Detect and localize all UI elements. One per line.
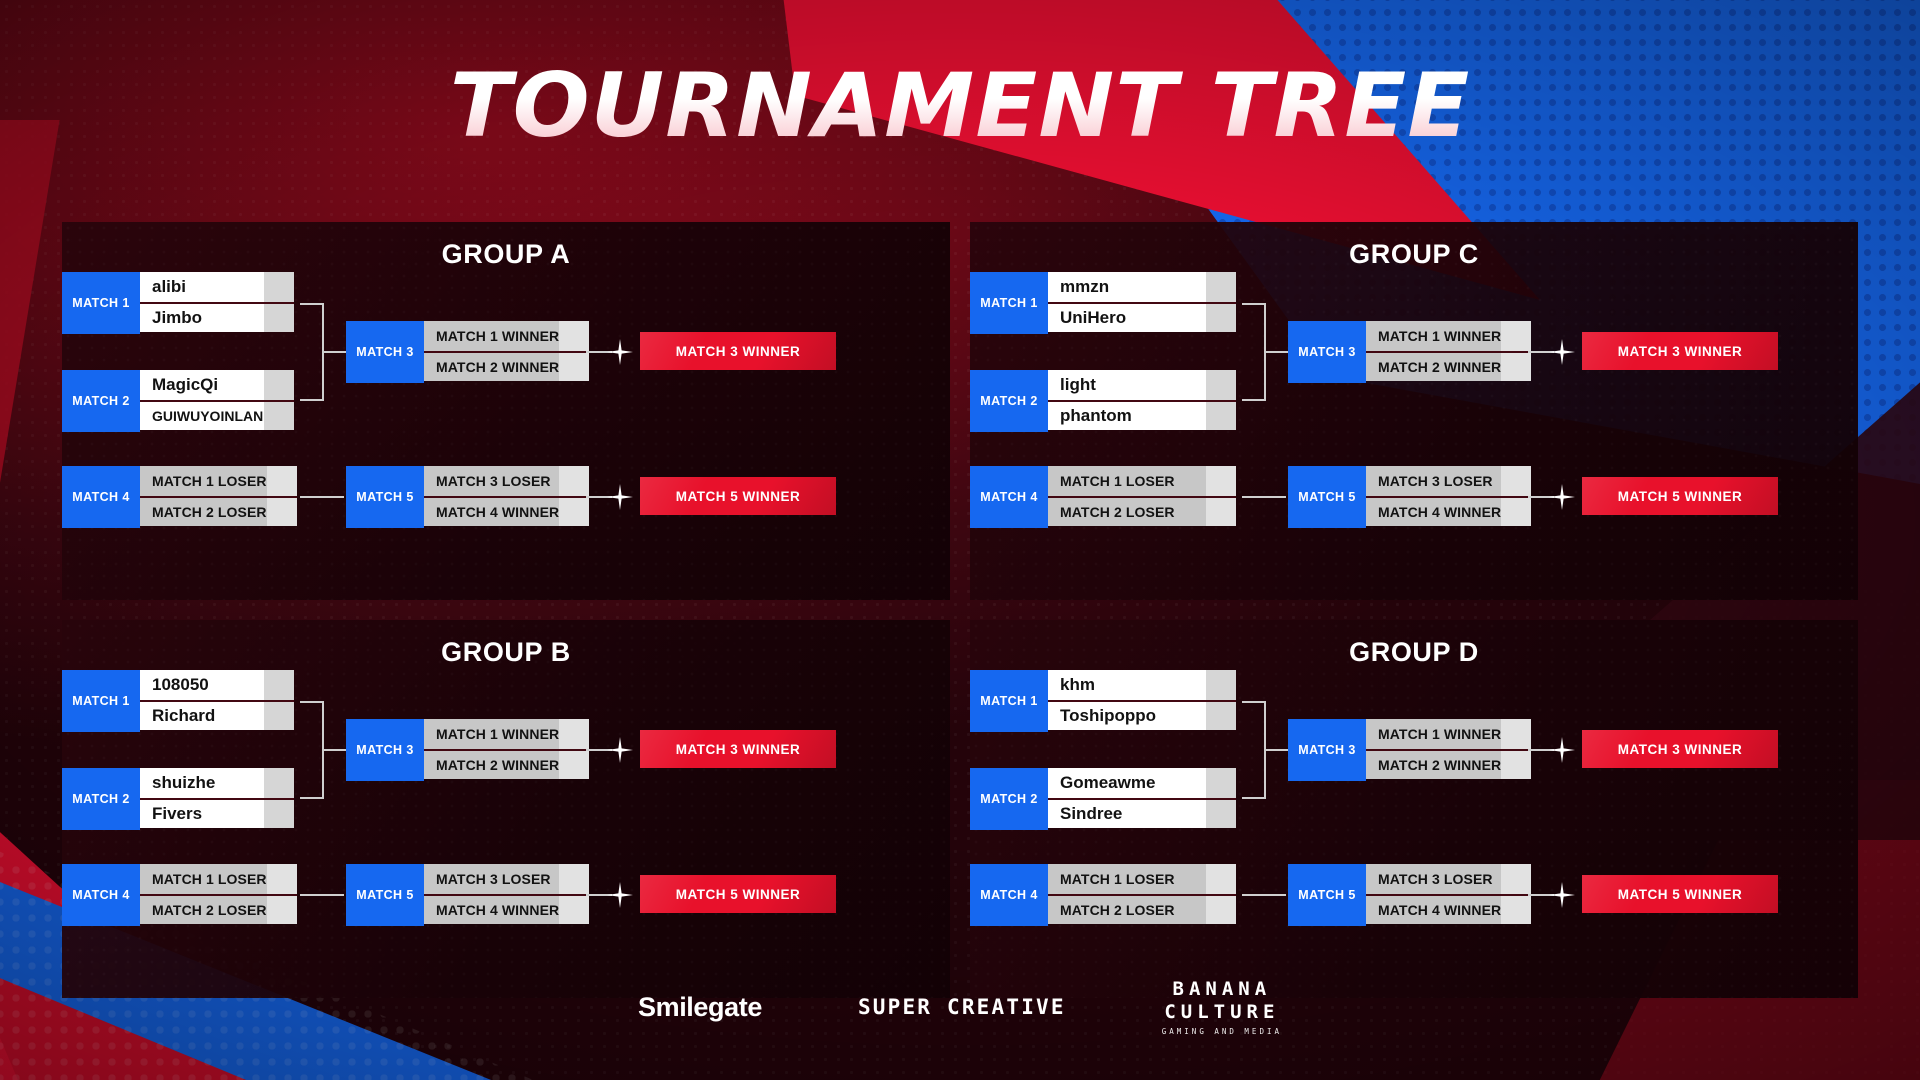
group-c-bracket: MATCH 1 mmzn UniHero MATCH 2 bbox=[970, 270, 1858, 588]
score-cell bbox=[1206, 800, 1236, 828]
team-name: khm bbox=[1048, 670, 1206, 700]
score-cell bbox=[559, 751, 589, 779]
match-label: MATCH 4 bbox=[970, 466, 1048, 528]
group-d-match4-block[interactable]: MATCH 4 MATCH 1 LOSER MATCH 2 LOSER bbox=[970, 864, 1236, 926]
sparkle-icon bbox=[1549, 484, 1575, 510]
match-row[interactable]: MATCH 3 LOSER bbox=[424, 466, 589, 496]
logo-banana-tagline: GAMING AND MEDIA bbox=[1162, 1027, 1282, 1036]
score-cell bbox=[267, 498, 297, 526]
match-row[interactable]: MATCH 3 LOSER bbox=[1366, 864, 1531, 894]
sponsor-footer: Smilegate SUPER CREATIVE BANANA CULTURE … bbox=[0, 978, 1920, 1036]
match-label: MATCH 5 bbox=[346, 864, 424, 926]
group-a-match2-block[interactable]: MATCH 2 MagicQi GUIWUYOINLAN bbox=[62, 370, 294, 432]
team-name: shuizhe bbox=[140, 768, 264, 798]
score-cell bbox=[264, 702, 294, 730]
group-d-title: GROUP D bbox=[970, 620, 1858, 668]
group-panel-b: GROUP B MATCH 1 108050 Richard bbox=[62, 620, 950, 998]
placeholder-name: MATCH 3 LOSER bbox=[1366, 864, 1501, 894]
score-cell bbox=[1501, 719, 1531, 749]
group-d-bracket: MATCH 1 khm Toshipoppo MATCH 2 bbox=[970, 668, 1858, 986]
match-label: MATCH 1 bbox=[970, 272, 1048, 334]
score-cell bbox=[559, 896, 589, 924]
match-label: MATCH 2 bbox=[62, 768, 140, 830]
match-row[interactable]: mmzn bbox=[1048, 272, 1236, 302]
placeholder-name: MATCH 1 LOSER bbox=[140, 864, 267, 894]
team-name: MagicQi bbox=[140, 370, 264, 400]
match-label: MATCH 2 bbox=[970, 768, 1048, 830]
score-cell bbox=[559, 466, 589, 496]
match-row[interactable]: MATCH 1 WINNER bbox=[1366, 321, 1531, 351]
sparkle-icon bbox=[607, 882, 633, 908]
placeholder-name: MATCH 4 WINNER bbox=[1366, 896, 1501, 924]
team-name: UniHero bbox=[1048, 304, 1206, 332]
group-c-title: GROUP C bbox=[970, 222, 1858, 270]
match-row[interactable]: MATCH 2 WINNER bbox=[424, 351, 589, 381]
group-c-match5-block[interactable]: MATCH 5 MATCH 3 LOSER MATCH 4 WINNER bbox=[1288, 466, 1524, 528]
connector-line-to-match3 bbox=[1266, 351, 1288, 353]
connector-line-to-match3 bbox=[1266, 749, 1288, 751]
match-row[interactable]: Fivers bbox=[140, 798, 294, 828]
score-cell bbox=[264, 304, 294, 332]
placeholder-name: MATCH 3 LOSER bbox=[424, 864, 559, 894]
match-row[interactable]: MATCH 1 LOSER bbox=[1048, 864, 1236, 894]
match-label: MATCH 4 bbox=[970, 864, 1048, 926]
placeholder-name: MATCH 2 WINNER bbox=[424, 353, 559, 381]
match-label: MATCH 3 bbox=[346, 321, 424, 383]
score-cell bbox=[1206, 272, 1236, 302]
group-a-match4-block[interactable]: MATCH 4 MATCH 1 LOSER MATCH 2 LOSER bbox=[62, 466, 294, 528]
placeholder-name: MATCH 3 LOSER bbox=[1366, 466, 1501, 496]
group-a-match1-block[interactable]: MATCH 1 alibi Jimbo bbox=[62, 272, 294, 334]
score-cell bbox=[264, 768, 294, 798]
group-d-match2-block[interactable]: MATCH 2 Gomeawme Sindree bbox=[970, 768, 1236, 830]
group-b-match3-block[interactable]: MATCH 3 MATCH 1 WINNER MATCH 2 WINNER bbox=[346, 719, 582, 781]
score-cell bbox=[267, 466, 297, 496]
match-row[interactable]: Toshipoppo bbox=[1048, 700, 1236, 730]
match-row[interactable]: MATCH 1 WINNER bbox=[424, 321, 589, 351]
connector-line-match4-match5 bbox=[1242, 894, 1286, 896]
group-a-match3-block[interactable]: MATCH 3 MATCH 1 WINNER MATCH 2 WINNER bbox=[346, 321, 582, 383]
connector-bracket-upper bbox=[300, 303, 324, 401]
placeholder-name: MATCH 2 WINNER bbox=[1366, 353, 1501, 381]
score-cell bbox=[1501, 498, 1531, 526]
match-row[interactable]: Sindree bbox=[1048, 798, 1236, 828]
placeholder-name: MATCH 4 WINNER bbox=[1366, 498, 1501, 526]
score-cell bbox=[264, 370, 294, 400]
logo-super-creative: SUPER CREATIVE bbox=[858, 995, 1066, 1019]
group-panel-a: GROUP A MATCH 1 alibi Jimbo bbox=[62, 222, 950, 600]
group-a-title: GROUP A bbox=[62, 222, 950, 270]
match-row[interactable]: MATCH 2 WINNER bbox=[1366, 749, 1531, 779]
score-cell bbox=[559, 498, 589, 526]
score-cell bbox=[264, 800, 294, 828]
score-cell bbox=[1206, 498, 1236, 526]
page-title: TOURNAMENT TREE bbox=[0, 62, 1920, 150]
score-cell bbox=[1501, 864, 1531, 894]
team-name: GUIWUYOINLAN bbox=[140, 402, 264, 430]
match-row[interactable]: UniHero bbox=[1048, 302, 1236, 332]
team-name: mmzn bbox=[1048, 272, 1206, 302]
match-row[interactable]: phantom bbox=[1048, 400, 1236, 430]
score-cell bbox=[559, 864, 589, 894]
score-cell bbox=[1206, 768, 1236, 798]
logo-banana-line2: CULTURE bbox=[1162, 1001, 1282, 1023]
match-row[interactable]: MATCH 1 WINNER bbox=[424, 719, 589, 749]
connector-bracket-upper bbox=[300, 701, 324, 799]
match-row[interactable]: Gomeawme bbox=[1048, 768, 1236, 798]
placeholder-name: MATCH 2 LOSER bbox=[1048, 896, 1206, 924]
placeholder-name: MATCH 2 WINNER bbox=[424, 751, 559, 779]
match-row[interactable]: MATCH 3 LOSER bbox=[424, 864, 589, 894]
group-c-match3-winner-badge[interactable]: MATCH 3 WINNER bbox=[1582, 332, 1778, 370]
team-name: 108050 bbox=[140, 670, 264, 700]
placeholder-name: MATCH 2 LOSER bbox=[140, 896, 267, 924]
score-cell bbox=[1501, 466, 1531, 496]
connector-line-match4-match5 bbox=[300, 894, 344, 896]
match-row[interactable]: light bbox=[1048, 370, 1236, 400]
placeholder-name: MATCH 3 LOSER bbox=[424, 466, 559, 496]
group-a-match5-winner-badge[interactable]: MATCH 5 WINNER bbox=[640, 477, 836, 515]
score-cell bbox=[1206, 896, 1236, 924]
group-c-match5-winner-badge[interactable]: MATCH 5 WINNER bbox=[1582, 477, 1778, 515]
group-b-match2-block[interactable]: MATCH 2 shuizhe Fivers bbox=[62, 768, 294, 830]
sparkle-icon bbox=[607, 484, 633, 510]
team-name: alibi bbox=[140, 272, 264, 302]
match-row[interactable]: khm bbox=[1048, 670, 1236, 700]
score-cell bbox=[1501, 353, 1531, 381]
connector-line-to-match3 bbox=[324, 749, 346, 751]
score-cell bbox=[1206, 370, 1236, 400]
connector-line-match4-match5 bbox=[300, 496, 344, 498]
placeholder-name: MATCH 1 LOSER bbox=[1048, 864, 1206, 894]
connector-line-to-match3 bbox=[324, 351, 346, 353]
group-b-match5-winner-badge[interactable]: MATCH 5 WINNER bbox=[640, 875, 836, 913]
match-label: MATCH 1 bbox=[62, 670, 140, 732]
group-c-match1-block[interactable]: MATCH 1 mmzn UniHero bbox=[970, 272, 1236, 334]
logo-banana-line1: BANANA bbox=[1162, 978, 1282, 1000]
match-row[interactable]: MATCH 1 LOSER bbox=[140, 864, 297, 894]
connector-line-match4-match5 bbox=[1242, 496, 1286, 498]
score-cell bbox=[1501, 321, 1531, 351]
connector-bracket-upper bbox=[1242, 701, 1266, 799]
placeholder-name: MATCH 1 WINNER bbox=[424, 321, 559, 351]
placeholder-name: MATCH 1 WINNER bbox=[1366, 719, 1501, 749]
score-cell bbox=[1206, 702, 1236, 730]
placeholder-name: MATCH 2 LOSER bbox=[140, 498, 267, 526]
match-row[interactable]: shuizhe bbox=[140, 768, 294, 798]
group-d-match1-block[interactable]: MATCH 1 khm Toshipoppo bbox=[970, 670, 1236, 732]
tournament-tree-graphic: TOURNAMENT TREE GROUP A MATCH 1 alibi Ji… bbox=[0, 0, 1920, 1080]
score-cell bbox=[1206, 466, 1236, 496]
score-cell bbox=[559, 321, 589, 351]
match-row[interactable]: MATCH 4 WINNER bbox=[1366, 496, 1531, 526]
placeholder-name: MATCH 4 WINNER bbox=[424, 498, 559, 526]
score-cell bbox=[559, 719, 589, 749]
score-cell bbox=[559, 353, 589, 381]
team-name: Gomeawme bbox=[1048, 768, 1206, 798]
group-b-title: GROUP B bbox=[62, 620, 950, 668]
match-row[interactable]: Jimbo bbox=[140, 302, 294, 332]
score-cell bbox=[1206, 670, 1236, 700]
score-cell bbox=[264, 272, 294, 302]
group-d-match3-block[interactable]: MATCH 3 MATCH 1 WINNER MATCH 2 WINNER bbox=[1288, 719, 1524, 781]
match-row[interactable]: MATCH 2 WINNER bbox=[424, 749, 589, 779]
match-row[interactable]: 108050 bbox=[140, 670, 294, 700]
match-row[interactable]: MATCH 4 WINNER bbox=[424, 496, 589, 526]
group-a-match3-winner-badge[interactable]: MATCH 3 WINNER bbox=[640, 332, 836, 370]
match-label: MATCH 2 bbox=[970, 370, 1048, 432]
match-row[interactable]: MATCH 2 LOSER bbox=[140, 496, 297, 526]
sparkle-icon bbox=[1549, 339, 1575, 365]
match-label: MATCH 2 bbox=[62, 370, 140, 432]
team-name: Fivers bbox=[140, 800, 264, 828]
team-name: Toshipoppo bbox=[1048, 702, 1206, 730]
team-name: Richard bbox=[140, 702, 264, 730]
match-row[interactable]: MATCH 1 WINNER bbox=[1366, 719, 1531, 749]
match-row[interactable]: MATCH 4 WINNER bbox=[1366, 894, 1531, 924]
score-cell bbox=[267, 864, 297, 894]
group-d-match3-winner-badge[interactable]: MATCH 3 WINNER bbox=[1582, 730, 1778, 768]
group-a-bracket: MATCH 1 alibi Jimbo MATCH 2 bbox=[62, 270, 950, 588]
group-d-match5-winner-badge[interactable]: MATCH 5 WINNER bbox=[1582, 875, 1778, 913]
match-label: MATCH 5 bbox=[1288, 864, 1366, 926]
placeholder-name: MATCH 2 LOSER bbox=[1048, 498, 1206, 526]
score-cell bbox=[1206, 864, 1236, 894]
match-row[interactable]: MATCH 2 LOSER bbox=[140, 894, 297, 924]
match-row[interactable]: MATCH 4 WINNER bbox=[424, 894, 589, 924]
group-c-match3-block[interactable]: MATCH 3 MATCH 1 WINNER MATCH 2 WINNER bbox=[1288, 321, 1524, 383]
match-row[interactable]: MATCH 2 LOSER bbox=[1048, 894, 1236, 924]
placeholder-name: MATCH 1 LOSER bbox=[140, 466, 267, 496]
match-label: MATCH 3 bbox=[346, 719, 424, 781]
score-cell bbox=[1501, 751, 1531, 779]
placeholder-name: MATCH 1 WINNER bbox=[424, 719, 559, 749]
match-row[interactable]: MATCH 1 LOSER bbox=[1048, 466, 1236, 496]
score-cell bbox=[264, 402, 294, 430]
match-label: MATCH 3 bbox=[1288, 719, 1366, 781]
placeholder-name: MATCH 1 WINNER bbox=[1366, 321, 1501, 351]
group-b-bracket: MATCH 1 108050 Richard MATCH 2 bbox=[62, 668, 950, 986]
logo-smilegate: Smilegate bbox=[638, 992, 762, 1023]
group-c-match2-block[interactable]: MATCH 2 light phantom bbox=[970, 370, 1236, 432]
match-row[interactable]: alibi bbox=[140, 272, 294, 302]
sparkle-icon bbox=[607, 737, 633, 763]
sparkle-icon bbox=[1549, 737, 1575, 763]
group-b-match5-block[interactable]: MATCH 5 MATCH 3 LOSER MATCH 4 WINNER bbox=[346, 864, 582, 926]
group-panel-c: GROUP C MATCH 1 mmzn UniHero bbox=[970, 222, 1858, 600]
placeholder-name: MATCH 1 LOSER bbox=[1048, 466, 1206, 496]
score-cell bbox=[1501, 896, 1531, 924]
logo-banana-culture: BANANA CULTURE GAMING AND MEDIA bbox=[1162, 978, 1282, 1036]
group-a-match5-block[interactable]: MATCH 5 MATCH 3 LOSER MATCH 4 WINNER bbox=[346, 466, 582, 528]
placeholder-name: MATCH 2 WINNER bbox=[1366, 751, 1501, 779]
match-row[interactable]: MATCH 1 LOSER bbox=[140, 466, 297, 496]
score-cell bbox=[1206, 304, 1236, 332]
team-name: phantom bbox=[1048, 402, 1206, 430]
score-cell bbox=[267, 896, 297, 924]
match-row[interactable]: MagicQi bbox=[140, 370, 294, 400]
match-label: MATCH 4 bbox=[62, 864, 140, 926]
match-label: MATCH 1 bbox=[62, 272, 140, 334]
group-b-match4-block[interactable]: MATCH 4 MATCH 1 LOSER MATCH 2 LOSER bbox=[62, 864, 294, 926]
team-name: Sindree bbox=[1048, 800, 1206, 828]
match-row[interactable]: MATCH 3 LOSER bbox=[1366, 466, 1531, 496]
group-b-match3-winner-badge[interactable]: MATCH 3 WINNER bbox=[640, 730, 836, 768]
score-cell bbox=[1206, 402, 1236, 430]
match-label: MATCH 5 bbox=[346, 466, 424, 528]
match-label: MATCH 5 bbox=[1288, 466, 1366, 528]
placeholder-name: MATCH 4 WINNER bbox=[424, 896, 559, 924]
group-c-match4-block[interactable]: MATCH 4 MATCH 1 LOSER MATCH 2 LOSER bbox=[970, 466, 1236, 528]
team-name: light bbox=[1048, 370, 1206, 400]
match-row[interactable]: GUIWUYOINLAN bbox=[140, 400, 294, 430]
match-label: MATCH 4 bbox=[62, 466, 140, 528]
match-row[interactable]: MATCH 2 LOSER bbox=[1048, 496, 1236, 526]
groups-grid: GROUP A MATCH 1 alibi Jimbo bbox=[62, 222, 1858, 998]
team-name: Jimbo bbox=[140, 304, 264, 332]
sparkle-icon bbox=[1549, 882, 1575, 908]
connector-bracket-upper bbox=[1242, 303, 1266, 401]
score-cell bbox=[264, 670, 294, 700]
group-d-match5-block[interactable]: MATCH 5 MATCH 3 LOSER MATCH 4 WINNER bbox=[1288, 864, 1524, 926]
match-row[interactable]: Richard bbox=[140, 700, 294, 730]
group-panel-d: GROUP D MATCH 1 khm Toshipoppo bbox=[970, 620, 1858, 998]
sparkle-icon bbox=[607, 339, 633, 365]
group-b-match1-block[interactable]: MATCH 1 108050 Richard bbox=[62, 670, 294, 732]
match-label: MATCH 1 bbox=[970, 670, 1048, 732]
match-label: MATCH 3 bbox=[1288, 321, 1366, 383]
match-row[interactable]: MATCH 2 WINNER bbox=[1366, 351, 1531, 381]
